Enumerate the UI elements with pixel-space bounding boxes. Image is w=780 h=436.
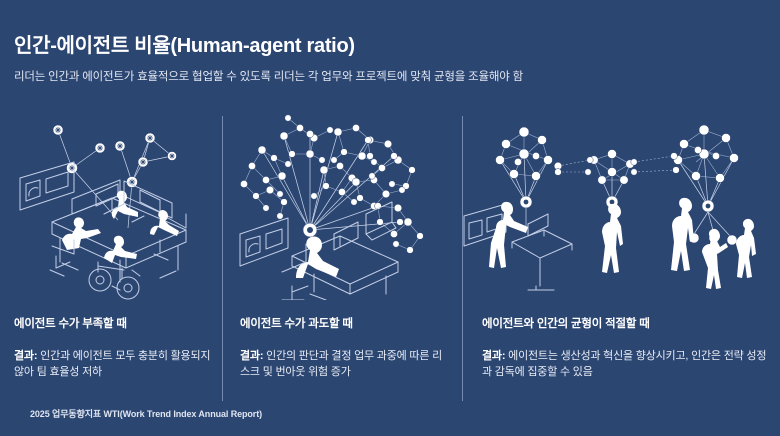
result-text-1: 인간과 에이전트 모두 충분히 활용되지 않아 팀 효율성 저하 (14, 350, 210, 378)
illustration-too-many-agents (222, 110, 462, 300)
wall-display (20, 162, 74, 210)
worker-figure-4-wheelchair (89, 236, 140, 299)
human-figure-2 (602, 204, 623, 273)
column-too-few-agents: 에이전트 수가 부족할 때 결과: 인간과 에이전트 모두 충분히 활용되지 않… (0, 110, 222, 300)
caption-balanced: 에이전트와 인간의 균형이 적절할 때 결과: 에이전트는 생산성과 혁신을 향… (482, 315, 772, 380)
column-body-1: 결과: 인간과 에이전트 모두 충분히 활용되지 않아 팀 효율성 저하 (14, 348, 214, 380)
result-label-2: 결과: (240, 350, 263, 362)
result-text-2: 인간의 판단과 결정 업무 과중에 따른 리스크 및 번아웃 위험 증가 (240, 350, 442, 378)
illustration-balanced (462, 110, 780, 300)
column-body-3: 결과: 에이전트는 생산성과 혁신을 향상시키고, 인간은 전략 성정과 감독에… (482, 348, 772, 380)
wall-display (240, 218, 288, 266)
result-text-3: 에이전트는 생산성과 혁신을 향상시키고, 인간은 전략 성정과 감독에 집중할… (482, 350, 766, 378)
column-too-many-agents: 에이전트 수가 과도할 때 결과: 인간의 판단과 결정 업무 과중에 따른 리… (222, 110, 462, 300)
column-body-2: 결과: 인간의 판단과 결정 업무 과중에 따른 리스크 및 번아웃 위험 증가 (240, 348, 446, 380)
caption-too-many-agents: 에이전트 수가 과도할 때 결과: 인간의 판단과 결정 업무 과중에 따른 리… (240, 315, 446, 380)
result-label-1: 결과: (14, 350, 37, 362)
page-subtitle: 리더는 인간과 에이전트가 효율적으로 협업할 수 있도록 리더는 각 업무와 … (14, 68, 523, 84)
agent-node-group-1 (53, 125, 177, 188)
caption-too-few-agents: 에이전트 수가 부족할 때 결과: 인간과 에이전트 모두 충분히 활용되지 않… (14, 315, 214, 380)
column-heading-1: 에이전트 수가 부족할 때 (14, 315, 214, 331)
agent-node-cloud (240, 115, 423, 254)
column-balanced-agents: 에이전트와 인간의 균형이 적절할 때 결과: 에이전트는 생산성과 혁신을 향… (462, 110, 780, 300)
monitor-and-chair (334, 202, 396, 250)
source-footnote: 2025 업무동향지표 WTI(Work Trend Index Annual … (30, 407, 262, 420)
illustration-too-few-agents (0, 110, 222, 300)
worker-figure-1 (50, 217, 101, 276)
human-figure-3 (671, 198, 694, 271)
page-title: 인간-에이전트 비율(Human-agent ratio) (14, 29, 355, 58)
human-figure-5 (736, 219, 756, 278)
worker-figure-2 (104, 191, 144, 222)
worker-figure-overloaded (282, 236, 339, 300)
column-heading-2: 에이전트 수가 과도할 때 (240, 315, 446, 331)
column-heading-3: 에이전트와 인간의 균형이 적절할 때 (482, 315, 772, 331)
worker-figure-3 (150, 210, 186, 260)
slide-root: 인간-에이전트 비율(Human-agent ratio) 리더는 인간과 에이… (0, 0, 780, 436)
result-label-3: 결과: (482, 350, 505, 362)
human-figure-4 (702, 229, 728, 289)
human-figure-1 (489, 202, 528, 268)
